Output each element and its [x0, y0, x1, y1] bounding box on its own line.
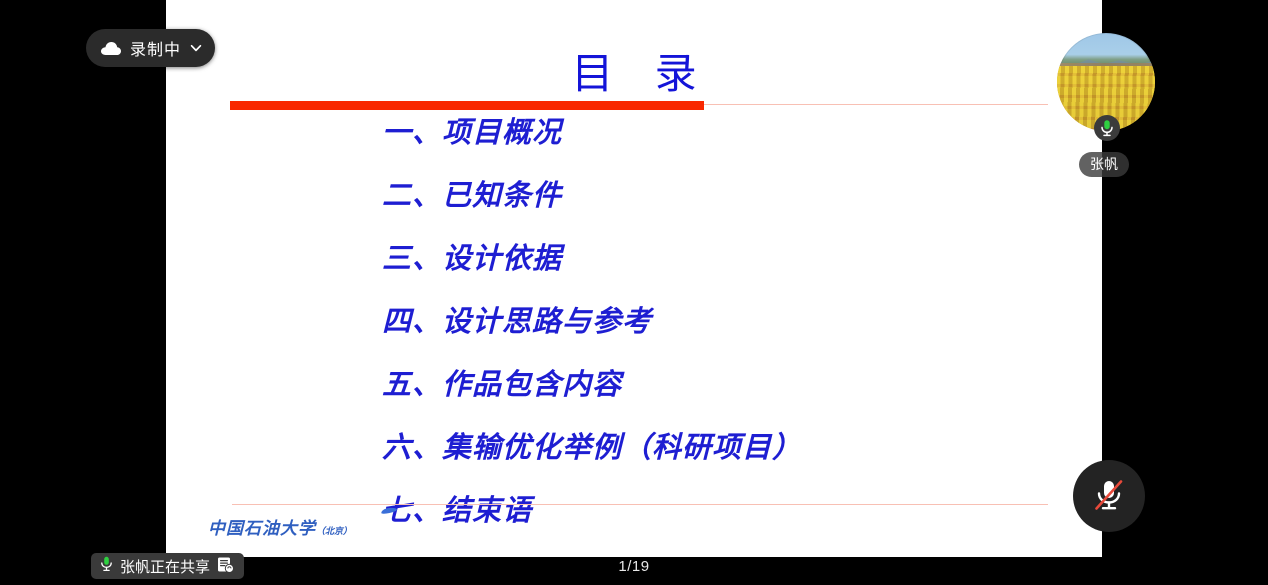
- university-logo: 中国石油大学（北京）: [208, 514, 352, 539]
- cloud-icon: [100, 41, 122, 56]
- toc-item: 二、已知条件: [382, 173, 1082, 236]
- microphone-on-icon: [1094, 115, 1120, 141]
- participant-name: 张帆: [1079, 152, 1129, 177]
- title-thin-rule: [704, 104, 1048, 105]
- slide-title: 目 录: [166, 48, 1102, 100]
- recording-status-pill[interactable]: 录制中: [86, 29, 215, 67]
- footer-rule: [232, 504, 1048, 505]
- university-campus: （北京）: [316, 527, 352, 537]
- toc-item: 四、设计思路与参考: [382, 299, 1082, 362]
- title-accent-bar: [230, 101, 704, 110]
- table-of-contents: 一、项目概况 二、已知条件 三、设计依据 四、设计思路与参考 五、作品包含内容 …: [382, 110, 1082, 551]
- recording-label: 录制中: [130, 36, 181, 60]
- shared-slide[interactable]: 目 录 一、项目概况 二、已知条件 三、设计依据 四、设计思路与参考 五、作品包…: [166, 0, 1102, 557]
- page-indicator: 1/19: [0, 558, 1268, 575]
- toc-item: 七、结束语: [382, 488, 1082, 551]
- university-name: 中国石油大学: [208, 519, 316, 539]
- microphone-muted-icon: [1092, 476, 1126, 517]
- toc-item: 三、设计依据: [382, 236, 1082, 299]
- toc-item: 六、集输优化举例（科研项目）: [382, 425, 1082, 488]
- toc-item: 一、项目概况: [382, 110, 1082, 173]
- toc-item: 五、作品包含内容: [382, 362, 1082, 425]
- screen-share-viewer: 目 录 一、项目概况 二、已知条件 三、设计依据 四、设计思路与参考 五、作品包…: [0, 0, 1268, 585]
- chevron-down-icon[interactable]: [189, 41, 203, 55]
- microphone-mute-button[interactable]: [1073, 460, 1145, 532]
- participant-tile[interactable]: 张帆: [1057, 33, 1155, 131]
